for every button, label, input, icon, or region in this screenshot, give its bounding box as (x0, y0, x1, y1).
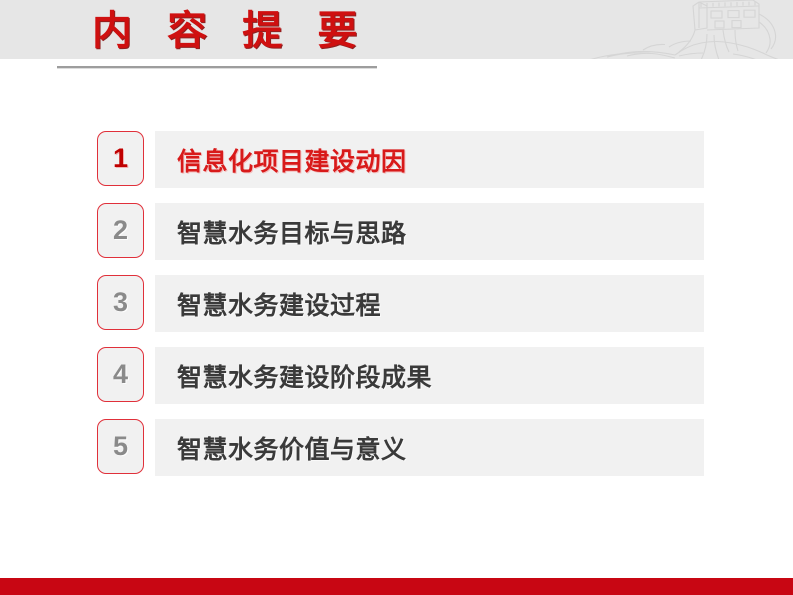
agenda-item-1[interactable]: 1 信息化项目建设动因 (0, 131, 793, 188)
agenda-item-number-badge: 4 (97, 347, 144, 402)
agenda-item-label: 智慧水务目标与思路 (177, 203, 407, 260)
agenda-item-label: 智慧水务建设过程 (177, 275, 381, 332)
agenda-item-number-badge: 1 (97, 131, 144, 186)
footer-accent-bar (0, 578, 793, 595)
slide-canvas: 内 容 提 要 1 信息化项目建设动因 2 智慧水务目标与思路 3 智慧水务建设… (0, 0, 793, 595)
agenda-item-label: 信息化项目建设动因 (177, 131, 407, 188)
agenda-item-number-badge: 5 (97, 419, 144, 474)
page-title: 内 容 提 要 (92, 8, 369, 54)
agenda-item-2[interactable]: 2 智慧水务目标与思路 (0, 203, 793, 260)
agenda-item-5[interactable]: 5 智慧水务价值与意义 (0, 419, 793, 476)
agenda-item-number: 2 (113, 217, 128, 244)
agenda-item-number: 3 (113, 289, 128, 316)
agenda-item-number: 4 (113, 361, 128, 388)
agenda-item-number-badge: 2 (97, 203, 144, 258)
agenda-item-3[interactable]: 3 智慧水务建设过程 (0, 275, 793, 332)
title-underline-rule (57, 66, 377, 69)
agenda-item-number: 5 (113, 433, 128, 460)
agenda-item-label: 智慧水务建设阶段成果 (177, 347, 432, 404)
header-band: 内 容 提 要 (0, 0, 793, 59)
agenda-item-number: 1 (113, 145, 128, 172)
agenda-item-label: 智慧水务价值与意义 (177, 419, 407, 476)
great-wall-watchtower-icon (583, 0, 793, 59)
agenda-item-number-badge: 3 (97, 275, 144, 330)
agenda-list: 1 信息化项目建设动因 2 智慧水务目标与思路 3 智慧水务建设过程 4 智慧水… (0, 131, 793, 491)
agenda-item-4[interactable]: 4 智慧水务建设阶段成果 (0, 347, 793, 404)
